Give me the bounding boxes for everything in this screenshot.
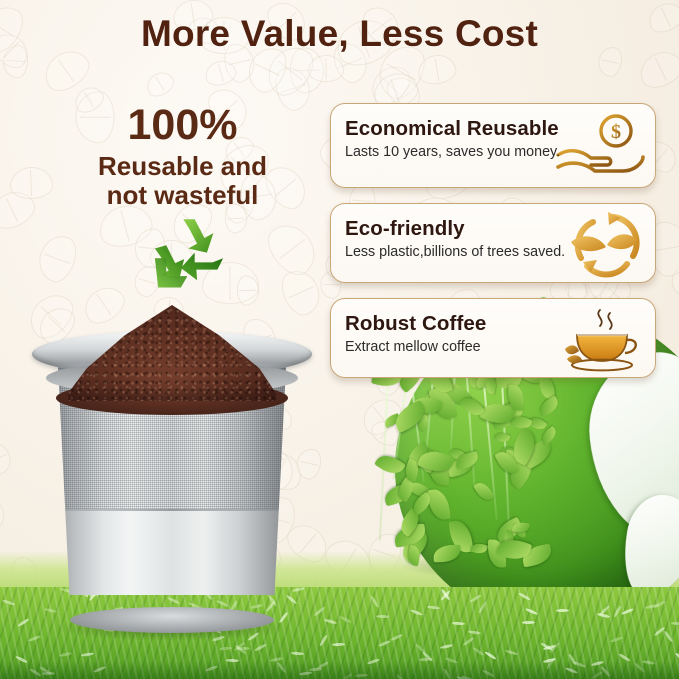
- grass-blade: [318, 634, 328, 647]
- feature-card-subtitle: Extract mellow coffee: [345, 339, 655, 356]
- grass-blade: [671, 621, 679, 625]
- claim-line-1: Reusable and: [60, 152, 305, 182]
- globe-leaf: [494, 431, 511, 445]
- grass-blade: [410, 608, 423, 616]
- grass-blade: [522, 621, 535, 624]
- feature-card-eco-friendly[interactable]: Eco-friendly Less plastic,billions of tr…: [330, 203, 656, 283]
- filter-base: [70, 607, 274, 633]
- grass-blade: [472, 647, 484, 657]
- grass-blade: [462, 637, 474, 647]
- grass-shadow-band: [0, 661, 679, 679]
- coffee-bean-watermark: [0, 439, 15, 478]
- feature-card-economical[interactable]: Economical Reusable Lasts 10 years, save…: [330, 103, 656, 188]
- coffee-bean-watermark: [9, 166, 53, 200]
- grass-blade: [376, 614, 389, 617]
- grass-blade: [332, 643, 345, 647]
- claim-block: 100% Reusable and not wasteful: [60, 104, 305, 211]
- feature-card-text: Robust Coffee Extract mellow coffee: [331, 299, 655, 368]
- coffee-bean-watermark: [260, 216, 325, 283]
- grass-blade: [324, 619, 337, 626]
- feature-card-subtitle: Less plastic,billions of trees saved.: [345, 244, 655, 261]
- grass-blade: [2, 599, 15, 606]
- grass-blade: [452, 621, 465, 625]
- recycle-icon: [148, 216, 230, 294]
- feature-card-subtitle: Lasts 10 years, saves you money.: [345, 144, 655, 161]
- grass-blade: [653, 601, 666, 610]
- grass-blade: [468, 630, 481, 635]
- coffee-bean-watermark: [0, 499, 4, 532]
- grass-blade: [477, 601, 486, 614]
- grass-blade: [59, 652, 72, 658]
- filter-band-seam: [50, 509, 294, 511]
- globe-leaf: [427, 488, 451, 522]
- reusable-coffee-filter-product: [32, 307, 312, 637]
- grass-blade: [518, 592, 531, 601]
- coffee-bean-watermark: [33, 231, 82, 287]
- product-infographic: More Value, Less Cost 100% Reusable and …: [0, 0, 679, 679]
- claim-line-2: not wasteful: [60, 181, 305, 211]
- grass-blade: [254, 643, 267, 652]
- grass-blade: [313, 607, 325, 618]
- grass-blade: [426, 606, 439, 610]
- grass-blade: [505, 649, 518, 656]
- grass-blade: [291, 651, 304, 655]
- grass-blade: [610, 636, 623, 643]
- page-title: More Value, Less Cost: [0, 13, 679, 55]
- grass-blade: [81, 652, 94, 657]
- coffee-bean-watermark: [143, 67, 178, 100]
- grass-blade: [219, 646, 232, 650]
- feature-card-list: Economical Reusable Lasts 10 years, save…: [330, 103, 656, 378]
- grass-blade: [390, 634, 403, 642]
- coffee-bean-watermark: [307, 55, 343, 82]
- grass-blade: [469, 594, 482, 603]
- feature-card-title: Eco-friendly: [345, 217, 655, 241]
- grass-blade: [613, 606, 622, 619]
- feature-card-title: Robust Coffee: [345, 312, 655, 336]
- grass-blade: [439, 644, 452, 650]
- grass-blade: [17, 617, 30, 627]
- feature-card-title: Economical Reusable: [345, 117, 655, 141]
- grass-blade: [663, 630, 673, 642]
- grass-blade: [525, 608, 538, 616]
- feature-card-robust-coffee[interactable]: Robust Coffee Extract mellow coffee: [330, 298, 656, 378]
- globe-leaf: [433, 544, 460, 562]
- globe-leaf: [470, 542, 488, 556]
- grass-blade: [621, 608, 634, 616]
- grass-blade: [339, 616, 352, 624]
- claim-percent: 100%: [60, 104, 305, 148]
- feature-card-text: Economical Reusable Lasts 10 years, save…: [331, 104, 655, 173]
- grass-blade: [556, 609, 569, 612]
- feature-card-text: Eco-friendly Less plastic,billions of tr…: [331, 204, 655, 273]
- grass-blade: [370, 596, 379, 609]
- grass-blade: [485, 651, 498, 661]
- grass-blade: [378, 639, 391, 647]
- globe-leaf: [374, 450, 406, 479]
